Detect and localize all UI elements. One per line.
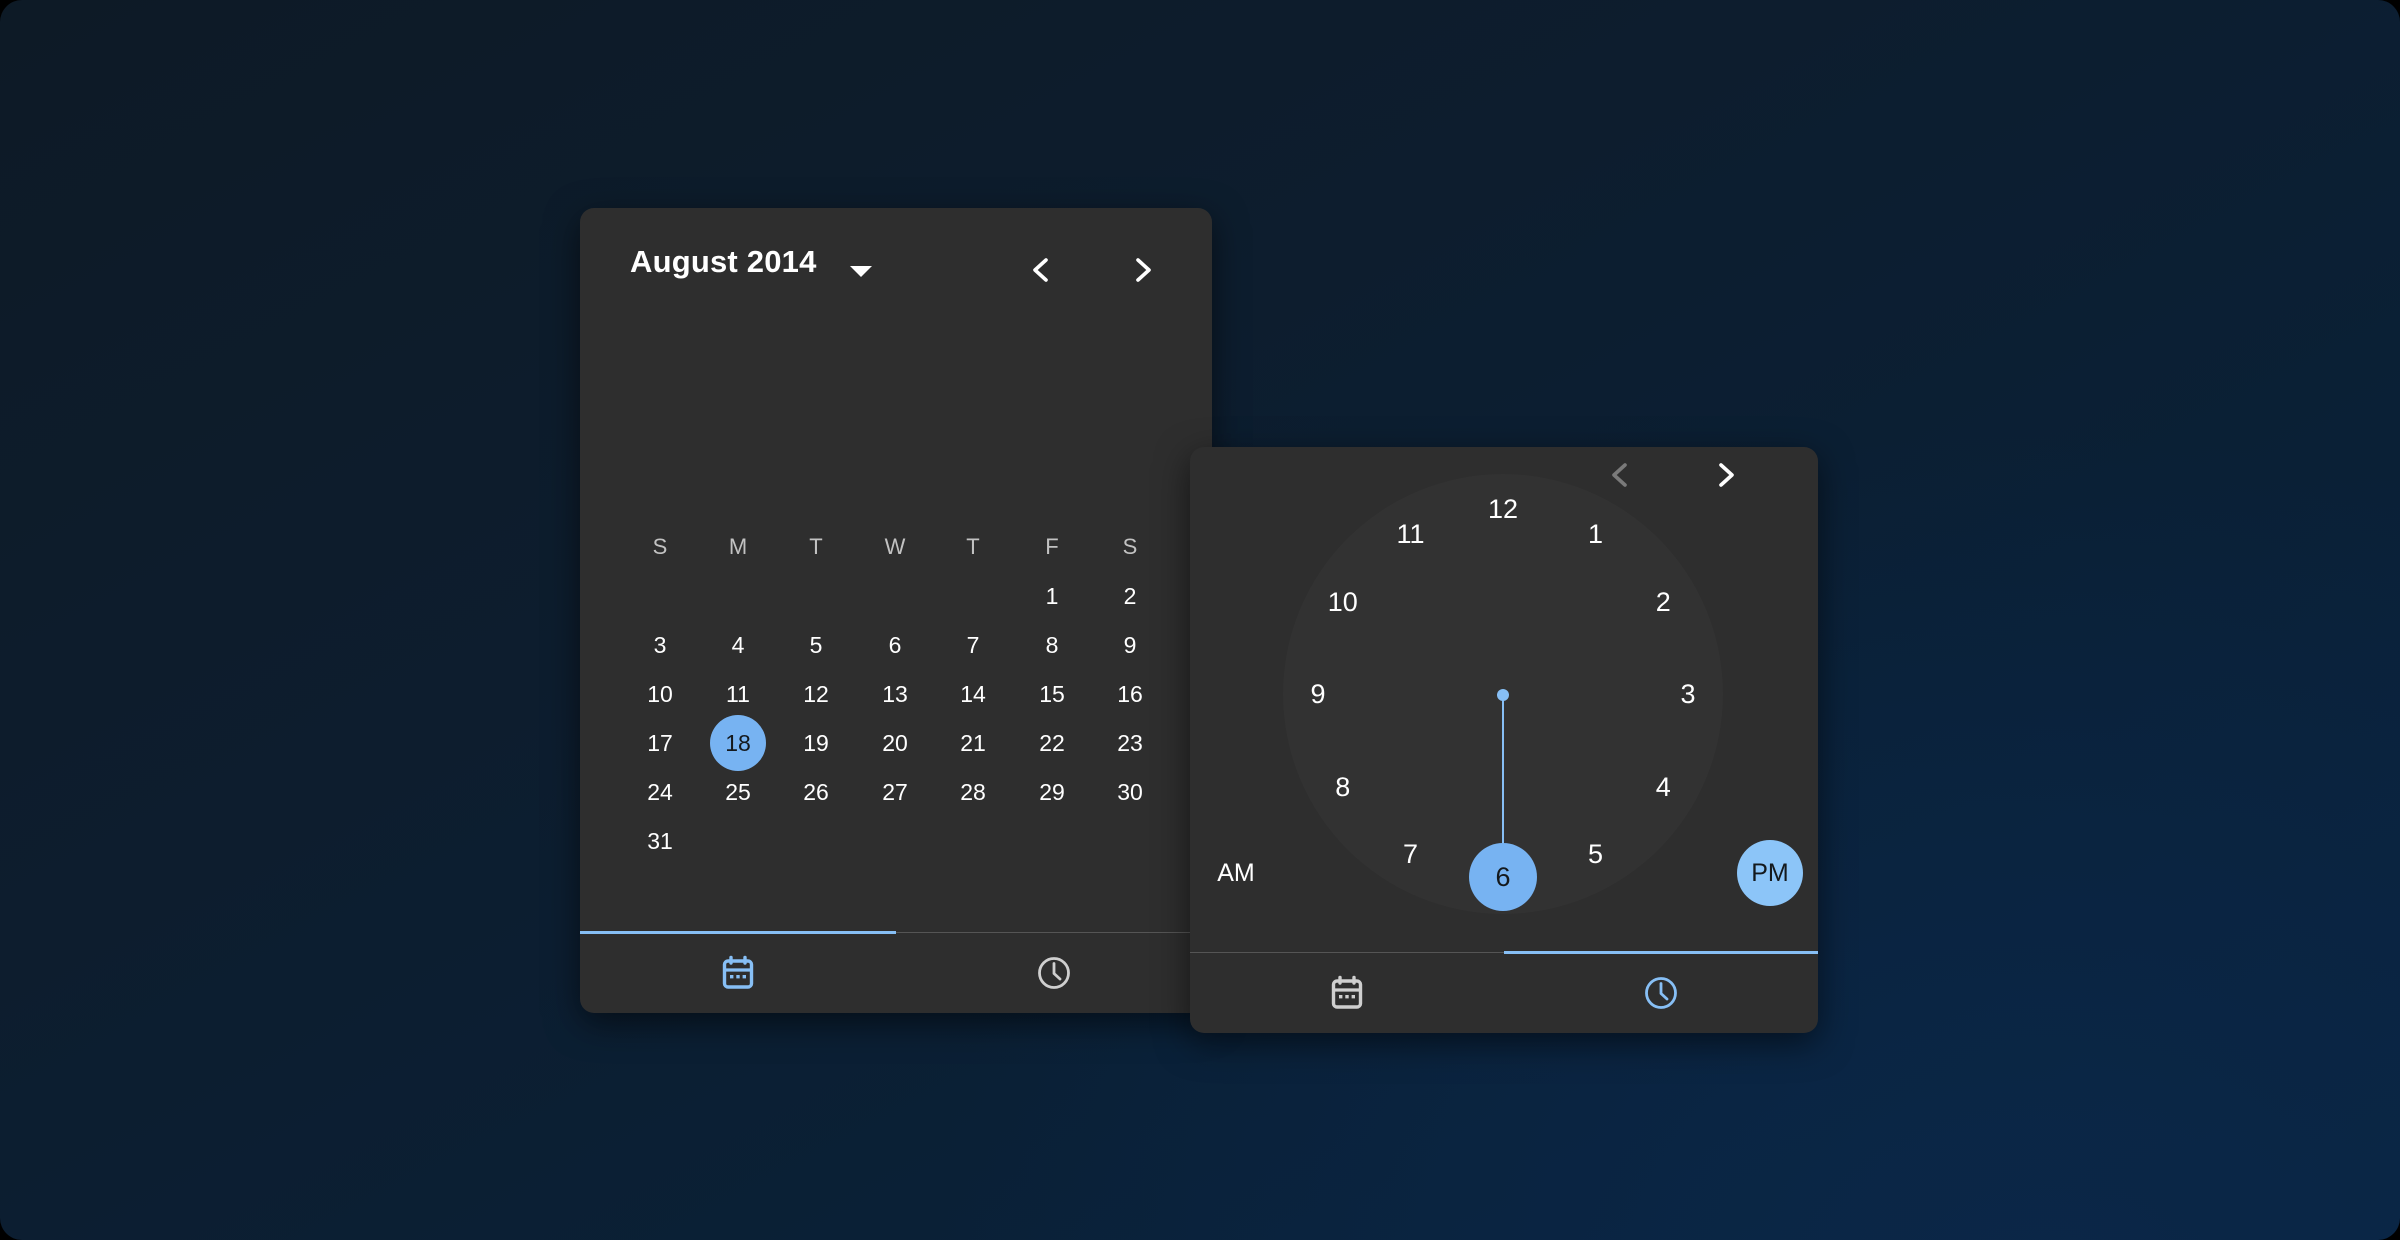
day-number: 28 <box>945 764 1001 820</box>
day-number: 4 <box>710 617 766 673</box>
date-picker-header: August 2014 <box>580 208 1212 314</box>
day-number: 24 <box>632 764 688 820</box>
clock-icon <box>1643 975 1679 1011</box>
calendar-day-cell[interactable]: 1 <box>1024 568 1080 624</box>
calendar-day-cell[interactable]: 3 <box>632 617 688 673</box>
calendar-day-cell[interactable]: 21 <box>945 715 1001 771</box>
calendar-day-cell[interactable]: 23 <box>1102 715 1158 771</box>
day-number: 5 <box>788 617 844 673</box>
clock-hour-1[interactable]: 1 <box>1573 511 1619 557</box>
calendar-icon <box>721 955 755 991</box>
day-number: 25 <box>710 764 766 820</box>
day-number: 17 <box>632 715 688 771</box>
tab-calendar[interactable] <box>580 933 896 1013</box>
calendar-day-cell[interactable]: 2 <box>1102 568 1158 624</box>
weekday-header: T <box>788 534 844 560</box>
selected-day: 18 <box>710 715 766 771</box>
calendar-day-cell[interactable]: 29 <box>1024 764 1080 820</box>
calendar-day-cell[interactable]: 30 <box>1102 764 1158 820</box>
next-month-button[interactable] <box>1122 250 1162 290</box>
day-number: 9 <box>1102 617 1158 673</box>
calendar-day-cell[interactable]: 22 <box>1024 715 1080 771</box>
calendar-day-cell[interactable]: 15 <box>1024 666 1080 722</box>
calendar-day-cell[interactable]: 24 <box>632 764 688 820</box>
day-number: 7 <box>945 617 1001 673</box>
date-picker-tabbar <box>580 932 1212 1013</box>
clock-hour-8[interactable]: 8 <box>1320 764 1366 810</box>
day-number: 22 <box>1024 715 1080 771</box>
calendar-day-cell[interactable]: 11 <box>710 666 766 722</box>
day-number: 26 <box>788 764 844 820</box>
clock-hour-2[interactable]: 2 <box>1640 579 1686 625</box>
weekday-header: S <box>1102 534 1158 560</box>
weekday-header: T <box>945 534 1001 560</box>
calendar-day-cell[interactable]: 25 <box>710 764 766 820</box>
day-number: 1 <box>1024 568 1080 624</box>
app-background: August 2014 SMTWTFS 12345678910111213141… <box>0 0 2400 1240</box>
pm-button[interactable]: PM <box>1737 840 1803 906</box>
day-number: 13 <box>867 666 923 722</box>
day-number: 27 <box>867 764 923 820</box>
calendar-day-cell[interactable]: 20 <box>867 715 923 771</box>
previous-button[interactable] <box>1601 455 1641 495</box>
day-number: 10 <box>632 666 688 722</box>
day-number: 29 <box>1024 764 1080 820</box>
clock-icon <box>1036 955 1072 991</box>
calendar-icon <box>1330 975 1364 1011</box>
next-button[interactable] <box>1705 455 1745 495</box>
calendar-day-cell[interactable]: 6 <box>867 617 923 673</box>
calendar-day-cell[interactable]: 5 <box>788 617 844 673</box>
calendar-day-cell[interactable]: 14 <box>945 666 1001 722</box>
month-year-label[interactable]: August 2014 <box>630 244 817 280</box>
calendar-day-cell[interactable]: 28 <box>945 764 1001 820</box>
day-number: 6 <box>867 617 923 673</box>
day-number: 3 <box>632 617 688 673</box>
calendar-day-cell[interactable]: 4 <box>710 617 766 673</box>
time-picker-tabbar <box>1190 952 1818 1033</box>
chevron-down-icon[interactable] <box>850 266 872 277</box>
tab-calendar[interactable] <box>1190 953 1504 1033</box>
clock-hour-7[interactable]: 7 <box>1388 831 1434 877</box>
day-number: 11 <box>710 666 766 722</box>
day-number: 23 <box>1102 715 1158 771</box>
calendar-day-cell[interactable]: 10 <box>632 666 688 722</box>
calendar-day-cell[interactable]: 12 <box>788 666 844 722</box>
weekday-header: S <box>632 534 688 560</box>
clock-hour-5[interactable]: 5 <box>1573 831 1619 877</box>
day-number: 20 <box>867 715 923 771</box>
weekday-header-row: SMTWTFS <box>580 534 1212 564</box>
calendar-day-cell[interactable]: 31 <box>632 813 688 869</box>
calendar-day-cell[interactable]: 8 <box>1024 617 1080 673</box>
calendar-day-cell[interactable]: 27 <box>867 764 923 820</box>
calendar-day-cell[interactable]: 17 <box>632 715 688 771</box>
clock-hour-10[interactable]: 10 <box>1320 579 1366 625</box>
calendar-day-cell[interactable]: 26 <box>788 764 844 820</box>
clock-hour-12[interactable]: 12 <box>1480 486 1526 532</box>
day-number: 16 <box>1102 666 1158 722</box>
day-number: 31 <box>632 813 688 869</box>
clock-hour-4[interactable]: 4 <box>1640 764 1686 810</box>
tab-clock[interactable] <box>896 933 1212 1013</box>
day-number: 8 <box>1024 617 1080 673</box>
calendar-day-cell[interactable]: 9 <box>1102 617 1158 673</box>
calendar-day-cell[interactable]: 18 <box>710 715 766 771</box>
time-picker-dialog: 121234567891011 6 AM PM <box>1190 447 1818 1033</box>
selected-hour-marker[interactable]: 6 <box>1469 843 1537 911</box>
weekday-header: M <box>710 534 766 560</box>
day-number: 12 <box>788 666 844 722</box>
weekday-header: F <box>1024 534 1080 560</box>
calendar-day-cell[interactable]: 16 <box>1102 666 1158 722</box>
day-number: 19 <box>788 715 844 771</box>
day-number: 15 <box>1024 666 1080 722</box>
weekday-header: W <box>867 534 923 560</box>
tab-clock[interactable] <box>1504 953 1818 1033</box>
clock-hour-3[interactable]: 3 <box>1665 671 1711 717</box>
day-number: 2 <box>1102 568 1158 624</box>
day-number: 30 <box>1102 764 1158 820</box>
date-picker-dialog: August 2014 SMTWTFS 12345678910111213141… <box>580 208 1212 1013</box>
clock-hour-9[interactable]: 9 <box>1295 671 1341 717</box>
calendar-day-cell[interactable]: 19 <box>788 715 844 771</box>
calendar-day-cell[interactable]: 7 <box>945 617 1001 673</box>
calendar-day-cell[interactable]: 13 <box>867 666 923 722</box>
day-number: 21 <box>945 715 1001 771</box>
day-number: 14 <box>945 666 1001 722</box>
am-button[interactable]: AM <box>1190 840 1282 906</box>
clock-center-dot <box>1497 689 1509 701</box>
clock-hour-11[interactable]: 11 <box>1388 511 1434 557</box>
previous-month-button[interactable] <box>1022 250 1062 290</box>
